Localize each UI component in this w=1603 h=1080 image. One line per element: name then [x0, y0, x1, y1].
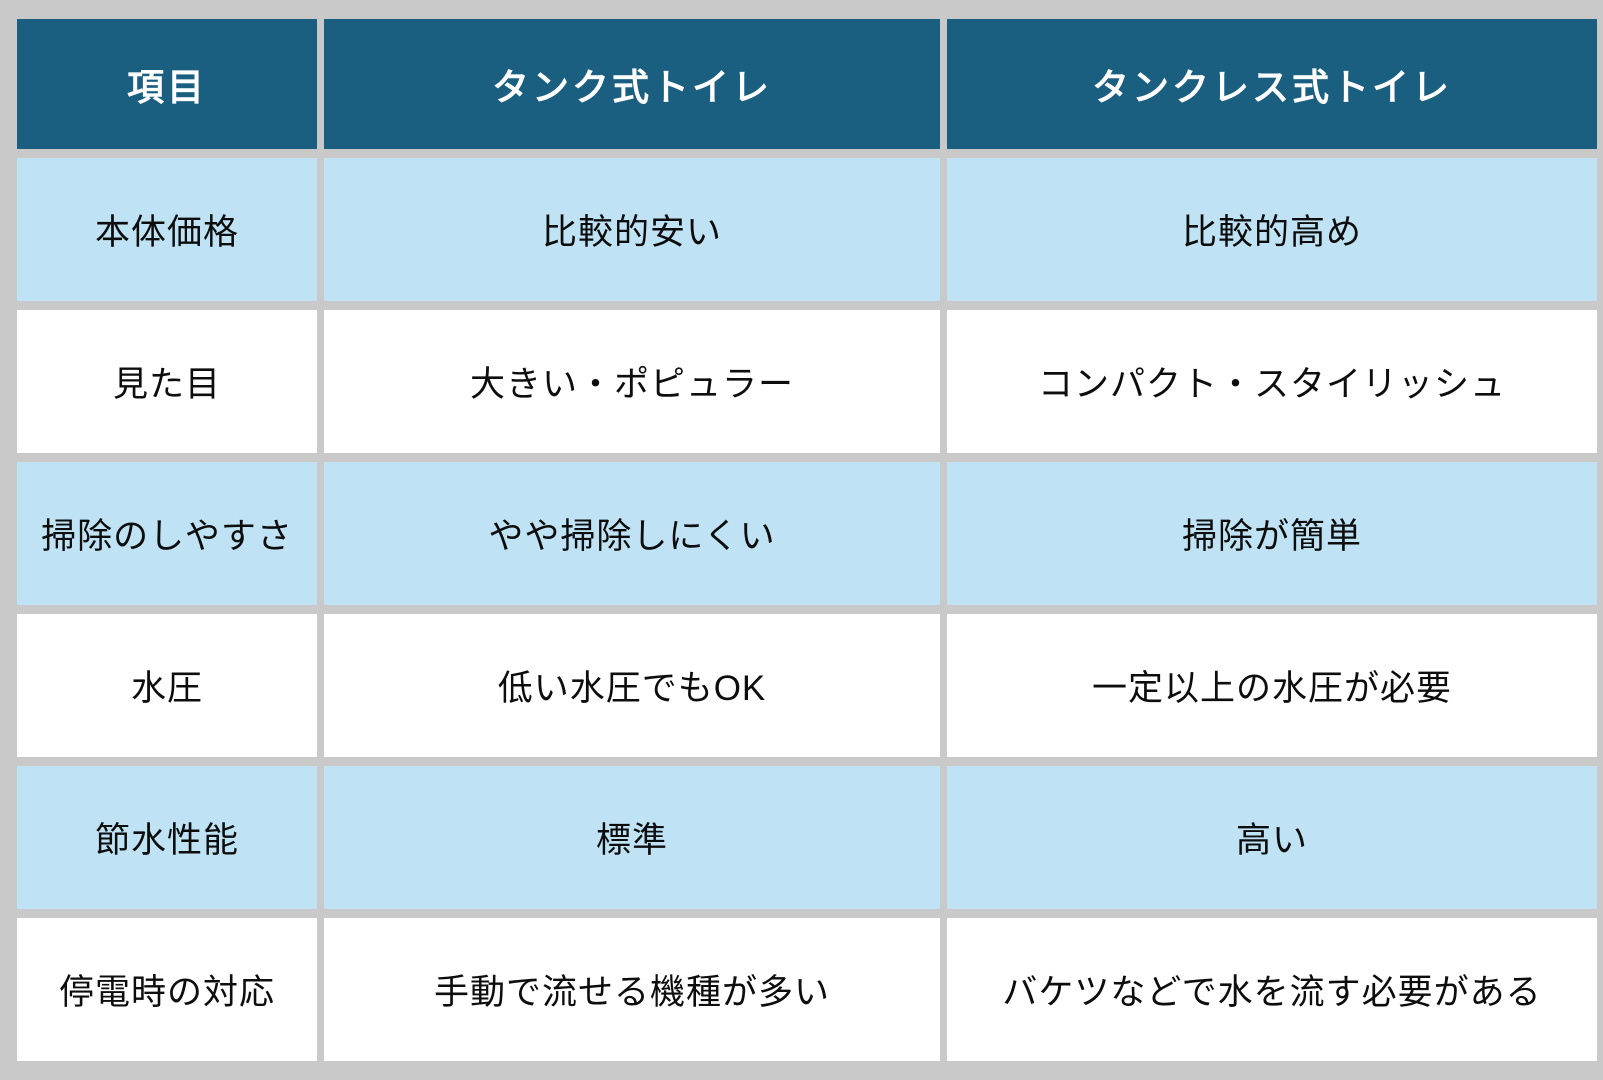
tank-value-cell: 大きい・ポピュラー	[324, 310, 940, 453]
row-label-cell: 停電時の対応	[17, 918, 317, 1061]
tankless-value-cell: 一定以上の水圧が必要	[947, 614, 1597, 757]
tank-value-cell: 低い水圧でもOK	[324, 614, 940, 757]
tank-value-cell: 手動で流せる機種が多い	[324, 918, 940, 1061]
tankless-value-cell: 比較的高め	[947, 158, 1597, 301]
table-row: 停電時の対応 手動で流せる機種が多い バケツなどで水を流す必要がある	[17, 918, 1597, 1061]
tankless-value-cell: バケツなどで水を流す必要がある	[947, 918, 1597, 1061]
header-row: 項目 タンク式トイレ タンクレス式トイレ	[17, 19, 1597, 149]
row-label-cell: 見た目	[17, 310, 317, 453]
table-row: 本体価格 比較的安い 比較的高め	[17, 158, 1597, 301]
table-header: 項目 タンク式トイレ タンクレス式トイレ	[17, 19, 1597, 149]
table-row: 節水性能 標準 高い	[17, 766, 1597, 909]
tank-value-cell: 標準	[324, 766, 940, 909]
column-header-tankless-toilet: タンクレス式トイレ	[947, 19, 1597, 149]
toilet-comparison-table: 項目 タンク式トイレ タンクレス式トイレ 本体価格 比較的安い 比較的高め 見た…	[10, 10, 1603, 1070]
table-row: 水圧 低い水圧でもOK 一定以上の水圧が必要	[17, 614, 1597, 757]
table-row: 見た目 大きい・ポピュラー コンパクト・スタイリッシュ	[17, 310, 1597, 453]
column-header-tank-toilet: タンク式トイレ	[324, 19, 940, 149]
tankless-value-cell: 高い	[947, 766, 1597, 909]
tank-value-cell: やや掃除しにくい	[324, 462, 940, 605]
row-label-cell: 本体価格	[17, 158, 317, 301]
table-body: 本体価格 比較的安い 比較的高め 見た目 大きい・ポピュラー コンパクト・スタイ…	[17, 158, 1597, 1061]
tank-value-cell: 比較的安い	[324, 158, 940, 301]
row-label-cell: 掃除のしやすさ	[17, 462, 317, 605]
tankless-value-cell: 掃除が簡単	[947, 462, 1597, 605]
column-header-item: 項目	[17, 19, 317, 149]
row-label-cell: 節水性能	[17, 766, 317, 909]
row-label-cell: 水圧	[17, 614, 317, 757]
table-row: 掃除のしやすさ やや掃除しにくい 掃除が簡単	[17, 462, 1597, 605]
comparison-table-container: 項目 タンク式トイレ タンクレス式トイレ 本体価格 比較的安い 比較的高め 見た…	[0, 0, 1603, 1080]
tankless-value-cell: コンパクト・スタイリッシュ	[947, 310, 1597, 453]
